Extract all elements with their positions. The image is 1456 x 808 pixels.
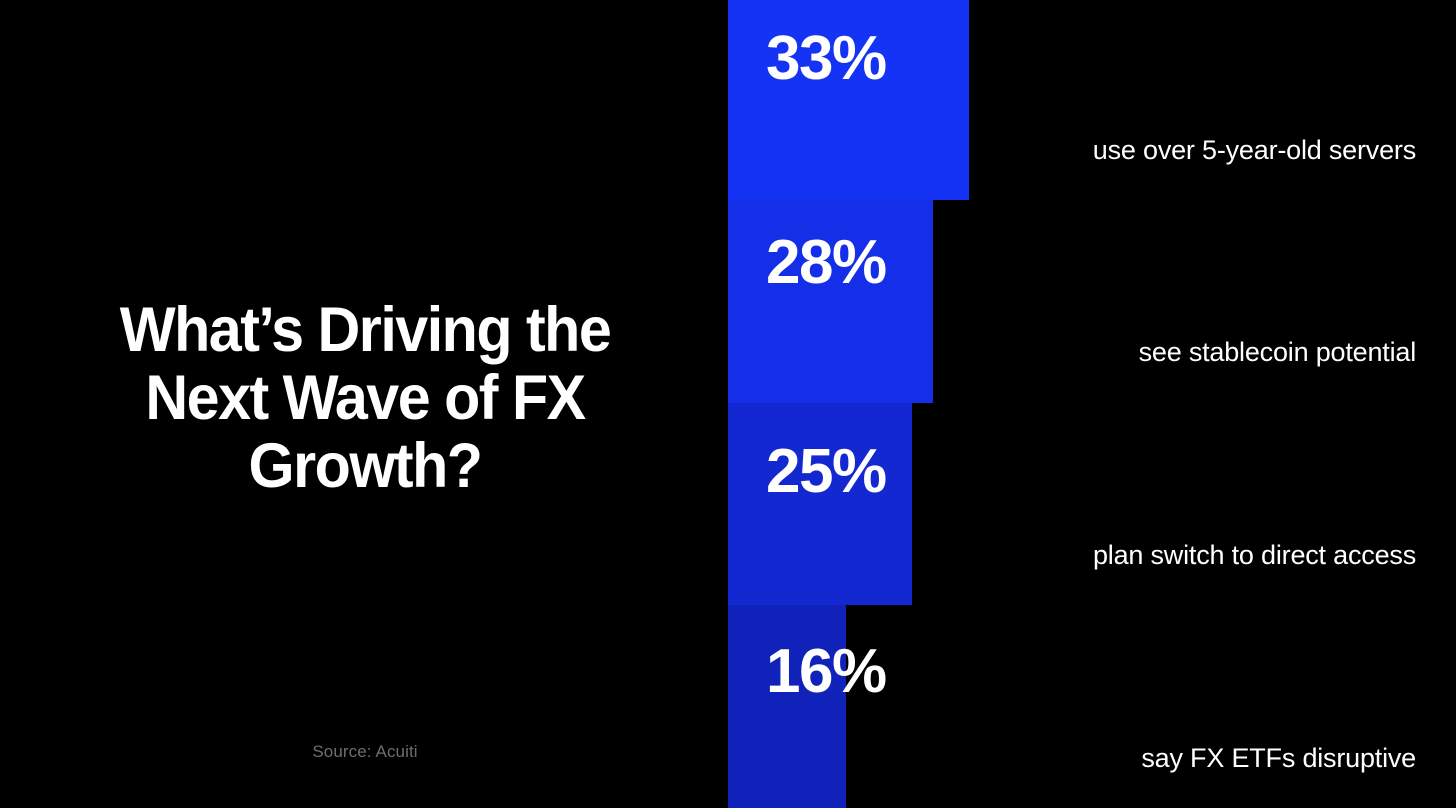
- bar-value-4: 16%: [766, 641, 886, 703]
- bar-value-3: 25%: [766, 441, 886, 503]
- bar-row: 16% say FX ETFs disruptive: [0, 605, 1456, 808]
- bar-segment-4: [728, 605, 846, 808]
- infographic-canvas: What’s Driving the Next Wave of FX Growt…: [0, 0, 1456, 808]
- bar-value-2: 28%: [766, 232, 886, 294]
- bar-row: 25% plan switch to direct access: [0, 403, 1456, 605]
- bar-label-4: say FX ETFs disruptive: [1141, 745, 1416, 772]
- bar-label-1: use over 5-year-old servers: [1093, 137, 1416, 164]
- bar-value-1: 33%: [766, 28, 886, 90]
- bar-label-2: see stablecoin potential: [1139, 339, 1416, 366]
- bar-label-3: plan switch to direct access: [1093, 542, 1416, 569]
- bar-row: 33% use over 5-year-old servers: [0, 0, 1456, 200]
- horizontal-bar-chart: 33% use over 5-year-old servers 28% see …: [0, 0, 1456, 808]
- bar-row: 28% see stablecoin potential: [0, 200, 1456, 403]
